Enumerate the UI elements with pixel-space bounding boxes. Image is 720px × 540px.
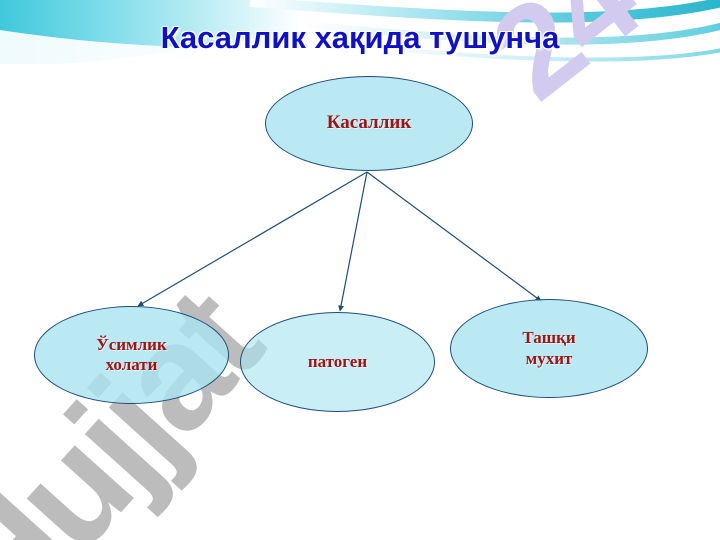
node-plant-state-label: Ўсимлик холати [96,335,167,375]
slide-title: Касаллик хақида тушунча [0,20,720,56]
connector-root-to-pathogen [340,172,367,311]
slide-canvas: 24 Hujjat Касаллик хақида тушунча Касалл… [0,0,720,540]
diagram-node-plant-state[interactable]: Ўсимлик холати [34,306,229,404]
connector-root-to-env [367,172,541,301]
node-environment-label: Ташқи мухит [522,328,575,368]
node-root-label: Касаллик [327,112,412,134]
diagram-node-pathogen[interactable]: патоген [240,312,435,412]
diagram-node-environment[interactable]: Ташқи мухит [450,299,648,398]
number-watermark: 24 [470,0,658,120]
node-pathogen-label: патоген [308,352,367,372]
diagram-node-root[interactable]: Касаллик [265,76,473,171]
